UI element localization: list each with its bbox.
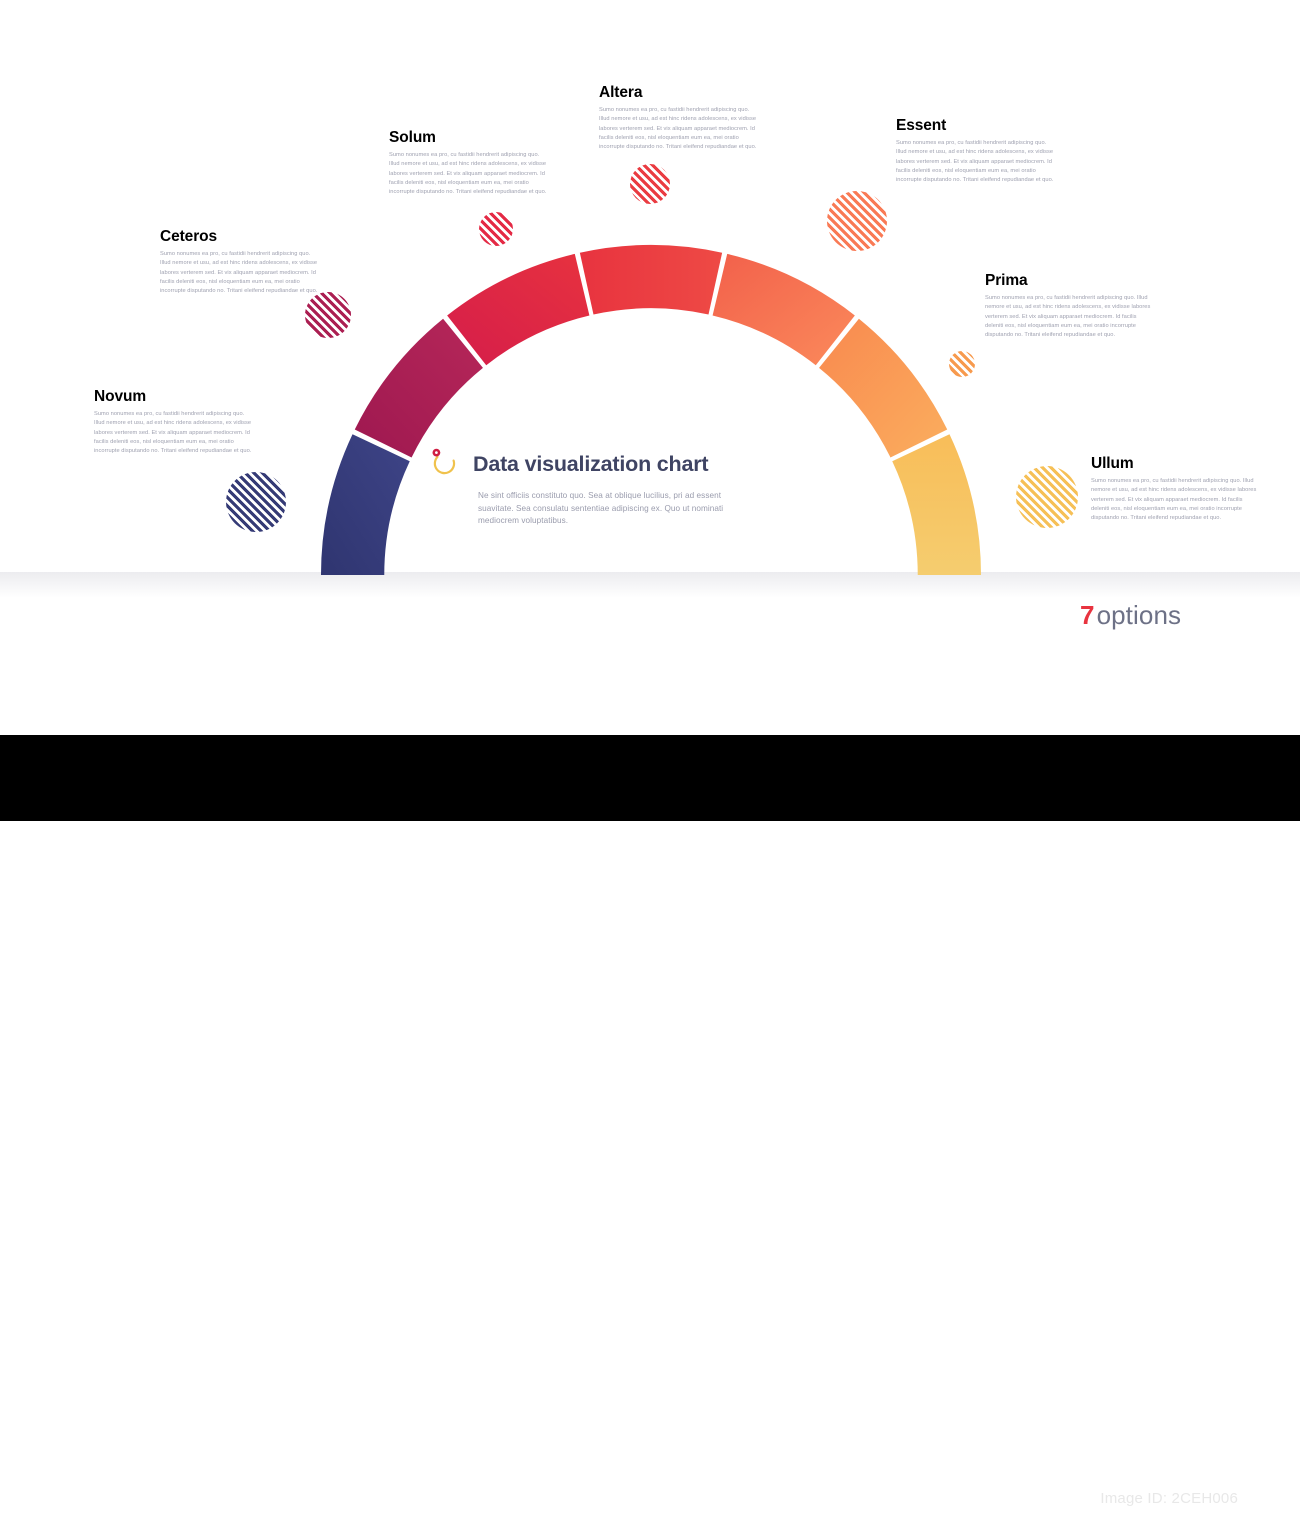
option-body-ullum: Sumo nonumes ea pro, cu fastidii hendrer… [1091,477,1259,523]
donut-segment-ullum[interactable] [892,434,981,575]
options-count: 7options [1080,600,1181,631]
option-title-essent: Essent [896,117,1058,134]
option-body-solum: Sumo nonumes ea pro, cu fastidii hendrer… [389,151,551,197]
option-title-altera: Altera [599,84,761,101]
marker-dot-ceteros [305,292,351,338]
marker-dot-prima [949,351,975,377]
watermark-url: www.alamy.com [1097,1514,1238,1535]
alamy-logo: alamy [48,1483,170,1529]
option-body-ceteros: Sumo nonumes ea pro, cu fastidii hendrer… [160,250,322,296]
option-title-novum: Novum [94,388,256,405]
marker-dot-ullum [1016,466,1078,528]
option-block-prima[interactable]: Prima Sumo nonumes ea pro, cu fastidii h… [985,272,1153,340]
option-block-altera[interactable]: Altera Sumo nonumes ea pro, cu fastidii … [599,84,761,152]
chart-center-header: Data visualization chart [428,447,758,481]
watermark-image-id: Image ID: 2CEH006 [1100,1490,1238,1507]
options-count-number: 7 [1080,600,1095,630]
donut-segment-ceteros[interactable] [355,319,483,458]
donut-segment-solum[interactable] [447,254,589,365]
options-count-label: options [1097,600,1182,630]
marker-dot-novum [226,472,286,532]
marker-dot-solum [479,212,513,246]
option-title-ullum: Ullum [1091,455,1259,472]
option-title-prima: Prima [985,272,1153,289]
chart-center-description: Ne sint officiis constituto quo. Sea at … [478,490,733,528]
option-block-ullum[interactable]: Ullum Sumo nonumes ea pro, cu fastidii h… [1091,455,1259,523]
marker-dot-altera [630,164,670,204]
option-block-solum[interactable]: Solum Sumo nonumes ea pro, cu fastidii h… [389,129,551,197]
donut-segment-essent[interactable] [713,254,855,365]
option-body-prima: Sumo nonumes ea pro, cu fastidii hendrer… [985,294,1153,340]
page-title: Data visualization chart [473,452,708,477]
option-block-novum[interactable]: Novum Sumo nonumes ea pro, cu fastidii h… [94,388,256,456]
option-block-essent[interactable]: Essent Sumo nonumes ea pro, cu fastidii … [896,117,1058,185]
option-block-ceteros[interactable]: Ceteros Sumo nonumes ea pro, cu fastidii… [160,228,322,296]
option-body-novum: Sumo nonumes ea pro, cu fastidii hendrer… [94,410,256,456]
option-body-essent: Sumo nonumes ea pro, cu fastidii hendrer… [896,139,1058,185]
option-title-solum: Solum [389,129,551,146]
watermark-bar: alamy Image ID: 2CEH006 www.alamy.com [0,735,1300,821]
donut-segment-prima[interactable] [819,319,947,458]
option-body-altera: Sumo nonumes ea pro, cu fastidii hendrer… [599,106,761,152]
donut-segment-novum[interactable] [321,434,410,575]
marker-dot-essent [827,191,887,251]
donut-segment-altera[interactable] [580,245,722,315]
chart-center-block: Data visualization chart Ne sint officii… [428,447,758,528]
option-title-ceteros: Ceteros [160,228,322,245]
ring-logo-icon [428,447,462,481]
infographic-artboard: Data visualization chart Ne sint officii… [0,0,1300,735]
